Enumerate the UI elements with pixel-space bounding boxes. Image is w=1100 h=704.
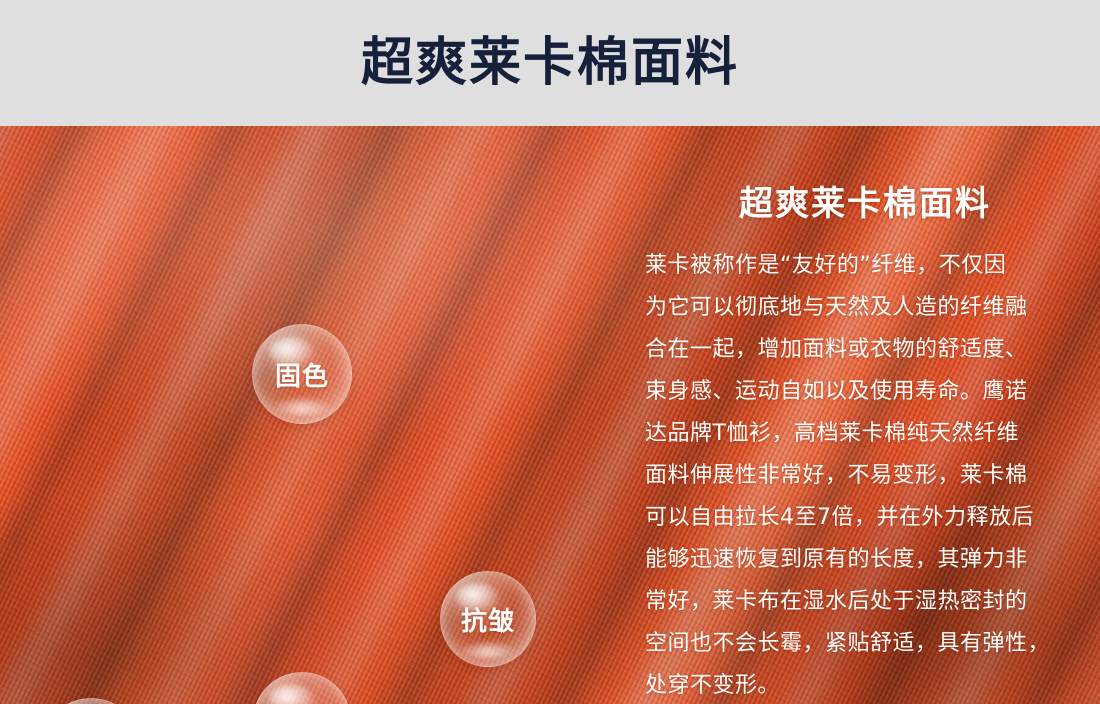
- feature-bubble: 固色: [252, 324, 352, 424]
- product-copy: 超爽莱卡棉面料 莱卡被称作是“友好的”纤维，不仅因为它可以彻底地与天然及人造的纤…: [645, 186, 1085, 704]
- product-detail-page: 超爽莱卡棉面料 固色抗皱透气亲肤 超爽莱卡棉面料 莱卡被称作是“友好的”纤维，不…: [0, 0, 1100, 704]
- product-copy-heading: 超爽莱卡棉面料: [645, 186, 1085, 223]
- product-copy-line: 能够迅速恢复到原有的长度，其弹力非: [645, 539, 1085, 581]
- fabric-photo: 固色抗皱透气亲肤 超爽莱卡棉面料 莱卡被称作是“友好的”纤维，不仅因为它可以彻底…: [0, 126, 1100, 704]
- feature-bubble: 抗皱: [440, 571, 536, 667]
- product-copy-line: 为它可以彻底地与天然及人造的纤维融: [645, 287, 1085, 329]
- product-copy-line: 处穿不变形。: [645, 665, 1085, 704]
- product-copy-line: 空间也不会长霉，紧贴舒适，具有弹性，: [645, 623, 1085, 665]
- product-copy-line: 合在一起，增加面料或衣物的舒适度、: [645, 329, 1085, 371]
- product-copy-line: 可以自由拉长4至7倍，并在外力释放后: [645, 497, 1085, 539]
- feature-bubble-label: 固色: [275, 356, 329, 393]
- product-copy-line: 束身感、运动自如以及使用寿命。鹰诺: [645, 371, 1085, 413]
- feature-bubble-label: 抗皱: [461, 601, 515, 638]
- product-copy-line: 莱卡被称作是“友好的”纤维，不仅因: [645, 245, 1085, 287]
- page-title: 超爽莱卡棉面料: [361, 37, 739, 89]
- product-copy-line: 达品牌T恤衫，高档莱卡棉纯天然纤维: [645, 413, 1085, 455]
- product-copy-body: 莱卡被称作是“友好的”纤维，不仅因为它可以彻底地与天然及人造的纤维融合在一起，增…: [645, 245, 1085, 704]
- product-copy-line: 常好，莱卡布在湿水后处于湿热密封的: [645, 581, 1085, 623]
- product-copy-line: 面料伸展性非常好，不易变形，莱卡棉: [645, 455, 1085, 497]
- page-header: 超爽莱卡棉面料: [0, 0, 1100, 126]
